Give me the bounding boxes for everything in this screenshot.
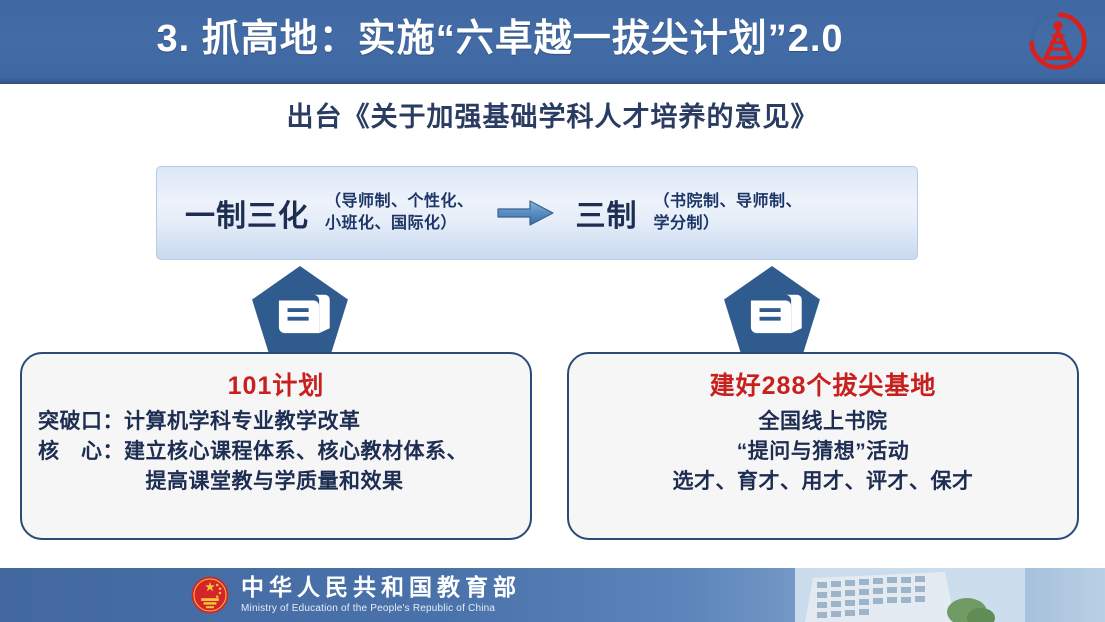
ministry-brand: 中华人民共和国教育部 Ministry of Education of the … [190,572,521,618]
card-line: 全国线上书院 [585,407,1061,437]
concept-banner: 一制三化 （导师制、个性化、 小班化、国际化） 三制 （书院制、导师制、 学分制… [156,166,918,260]
banner-left-title: 一制三化 [185,191,309,235]
header-band: 3. 抓高地：实施“六卓越一拔尖计划”2.0 [0,0,1105,84]
banner-right-title: 三制 [576,191,638,235]
footer-band: 中华人民共和国教育部 Ministry of Education of the … [0,568,1105,622]
book-icon [279,295,330,333]
page-title: 3. 抓高地：实施“六卓越一拔尖计划”2.0 [0,8,1000,70]
card-heading: 101计划 [38,366,514,402]
footer-text-block: 中华人民共和国教育部 Ministry of Education of the … [241,576,521,613]
card-101-plan: 101计划 突破口：计算机学科专业教学改革 核 心：建立核心课程体系、核心教材体… [20,352,532,540]
card-line: 核 心：建立核心课程体系、核心教材体系、 [38,437,514,467]
ministry-building-photo [795,568,1025,622]
book-badge-left [252,266,348,358]
ministry-name-cn: 中华人民共和国教育部 [241,576,521,600]
card-top-talent-bases: 建好288个拔尖基地 全国线上书院 “提问与猜想”活动 选才、育才、用才、评才、… [567,352,1079,540]
banner-right-detail: （书院制、导师制、 学分制） [654,191,803,234]
subtitle: 出台《关于加强基础学科人才培养的意见》 [0,95,1105,134]
card-heading: 建好288个拔尖基地 [585,366,1061,402]
card-line: 提高课堂教与学质量和效果 [38,467,514,497]
card-line: 选才、育才、用才、评才、保才 [585,467,1061,497]
banner-left-detail: （导师制、个性化、 小班化、国际化） [325,191,474,234]
card-line: 突破口：计算机学科专业教学改革 [38,407,514,437]
card-line: “提问与猜想”活动 [585,437,1061,467]
book-icon [751,295,802,333]
book-badge-right [724,266,820,358]
right-arrow-icon [496,198,556,228]
ministry-name-en: Ministry of Education of the People's Re… [241,603,521,614]
tongji-university-logo [1025,8,1091,74]
national-emblem-icon [190,575,230,615]
